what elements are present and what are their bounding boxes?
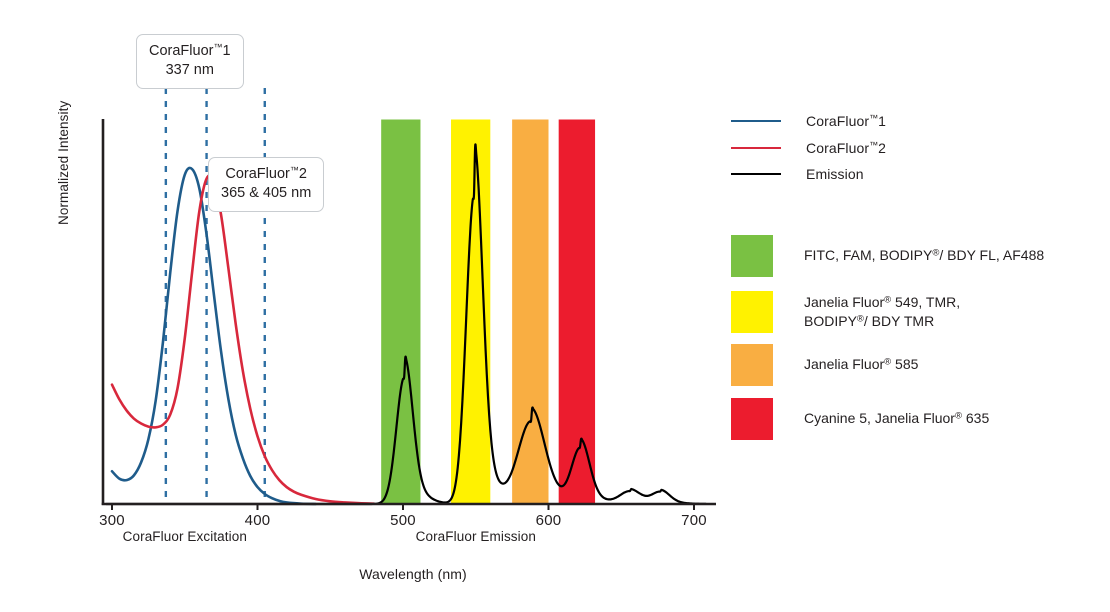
figure-root: Normalized Intensity 300400500600700 Cor… — [0, 0, 1110, 612]
cora1-callout-line1: CoraFluor™1 — [149, 42, 231, 61]
registered-glyph: ® — [932, 247, 939, 258]
region-label-emission: CoraFluor Emission — [356, 529, 596, 544]
dye-label-line1: Cyanine 5, Janelia Fluor® 635 — [804, 409, 989, 428]
green-band — [381, 120, 420, 505]
cora1-callout-line2: 337 nm — [149, 61, 231, 80]
dye-row-3: Cyanine 5, Janelia Fluor® 635 — [731, 398, 989, 440]
registered-glyph: ® — [884, 294, 891, 305]
cora2-callout-line1: CoraFluor™2 — [221, 165, 311, 184]
dye-label-line1: Janelia Fluor® 585 — [804, 355, 918, 374]
dye-color-swatch — [731, 398, 773, 440]
cora2-callout: CoraFluor™2 365 & 405 nm — [208, 157, 324, 212]
orange-band — [512, 120, 548, 505]
trademark-glyph: ™ — [869, 113, 878, 123]
x-tick-label-300: 300 — [82, 512, 142, 529]
legend-series-row-2: Emission — [731, 166, 864, 182]
x-tick-label-700: 700 — [664, 512, 724, 529]
dye-label-line1: FITC, FAM, BODIPY®/ BDY FL, AF488 — [804, 246, 1044, 265]
legend-line-swatch — [731, 120, 781, 122]
legend-series-label: CoraFluor™1 — [806, 113, 886, 129]
legend-panel: CoraFluor™1CoraFluor™2Emission Compatibl… — [730, 0, 1110, 612]
legend-series-row-0: CoraFluor™1 — [731, 113, 886, 129]
dye-label-line2: BODIPY®/ BDY TMR — [804, 312, 960, 331]
dye-label: Janelia Fluor® 585 — [804, 344, 918, 374]
cora2-callout-line2: 365 & 405 nm — [221, 184, 311, 203]
red-band — [559, 120, 595, 505]
x-tick-label-500: 500 — [373, 512, 433, 529]
x-tick-label-400: 400 — [228, 512, 288, 529]
dye-label-line1: Janelia Fluor® 549, TMR, — [804, 293, 960, 312]
dye-color-swatch — [731, 291, 773, 333]
dye-color-swatch — [731, 344, 773, 386]
chart-panel: Normalized Intensity 300400500600700 Cor… — [0, 0, 730, 612]
registered-glyph: ® — [857, 313, 864, 324]
trademark-glyph: ™ — [213, 42, 222, 52]
x-tick-label-600: 600 — [519, 512, 579, 529]
series-curve-corafluor2 — [112, 175, 374, 503]
legend-line-swatch — [731, 173, 781, 175]
legend-series-label: CoraFluor™2 — [806, 140, 886, 156]
legend-series-row-1: CoraFluor™2 — [731, 140, 886, 156]
dye-label: Cyanine 5, Janelia Fluor® 635 — [804, 398, 989, 428]
registered-glyph: ® — [884, 356, 891, 367]
legend-series-label: Emission — [806, 166, 864, 182]
series-curve-corafluor1 — [112, 168, 316, 504]
x-axis-title: Wavelength (nm) — [273, 566, 553, 582]
dye-row-0: FITC, FAM, BODIPY®/ BDY FL, AF488 — [731, 235, 1044, 277]
dye-row-2: Janelia Fluor® 585 — [731, 344, 918, 386]
trademark-glyph: ™ — [869, 140, 878, 150]
dye-row-1: Janelia Fluor® 549, TMR,BODIPY®/ BDY TMR — [731, 291, 960, 333]
dye-color-swatch — [731, 235, 773, 277]
y-axis-title: Normalized Intensity — [56, 35, 71, 225]
dye-label: FITC, FAM, BODIPY®/ BDY FL, AF488 — [804, 235, 1044, 265]
registered-glyph: ® — [955, 410, 962, 421]
cora1-callout: CoraFluor™1 337 nm — [136, 34, 244, 89]
region-label-excitation: CoraFluor Excitation — [65, 529, 305, 544]
trademark-glyph: ™ — [290, 165, 299, 175]
legend-line-swatch — [731, 147, 781, 149]
dye-label: Janelia Fluor® 549, TMR,BODIPY®/ BDY TMR — [804, 291, 960, 331]
